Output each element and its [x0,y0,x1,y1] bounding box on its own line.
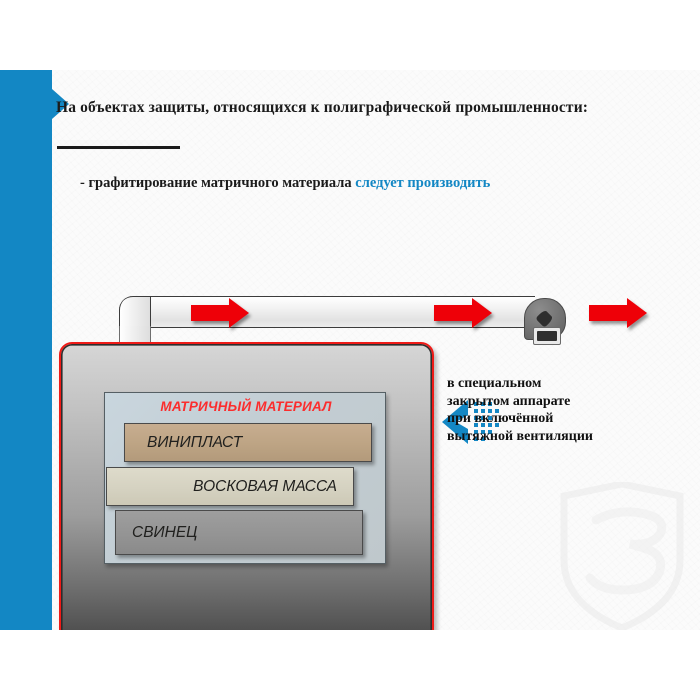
arrow-shaft [434,305,472,321]
page-title: На объектах защиты, относящихся к полигр… [56,97,596,119]
material-layer-lead: СВИНЕЦ [115,510,363,555]
subtitle-highlight: следует производить [355,175,490,191]
callout-line-4: вытяжной вентиляции [447,428,692,446]
callout-line-2: закрытом аппарате [447,393,692,411]
shield-watermark-icon [548,482,696,630]
airflow-arrow-icon [434,298,492,328]
title-line-2: промышленности: [455,99,588,116]
material-layer-label: ВОСКОВАЯ МАССА [193,478,337,496]
title-underline [57,146,180,149]
airflow-arrow-icon [589,298,647,328]
subtitle: - графитирование матричного материала сл… [80,175,690,192]
arrow-shaft [191,305,229,321]
slide-canvas: На объектах защиты, относящихся к полигр… [0,70,700,630]
accent-bar [0,70,52,630]
duct-elbow-cap [119,296,150,310]
callout-line-3: при включённой [447,410,692,428]
arrow-shaft [589,305,627,321]
material-layer-label: ВИНИПЛАСТ [147,434,242,452]
callout-text: в специальном закрытом аппарате при вклю… [447,375,692,446]
material-layer-label: СВИНЕЦ [132,524,197,542]
material-layer-wax: ВОСКОВАЯ МАССА [106,467,354,506]
callout-line-1: в специальном [447,375,692,393]
material-layer-vinyl: ВИНИПЛАСТ [124,423,372,462]
material-panel-title: МАТРИЧНЫЙ МАТЕРИАЛ [105,399,387,414]
fan-motor-inner [537,331,557,341]
airflow-arrow-icon [191,298,249,328]
title-line-1: На объектах защиты, относящихся к полигр… [56,99,451,116]
subtitle-prefix: - графитирование матричного материала [80,175,355,191]
arrow-head [627,298,647,328]
arrow-head [472,298,492,328]
arrow-head [229,298,249,328]
